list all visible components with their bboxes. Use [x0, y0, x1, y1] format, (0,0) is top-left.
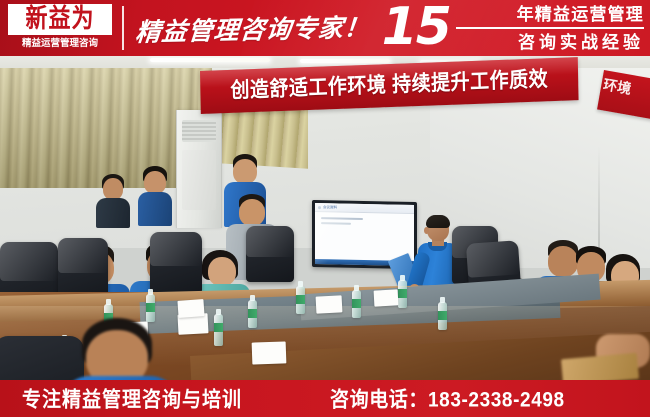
bottle-label: [104, 313, 113, 322]
wall-slogan-text: 创造舒适工作环境 持续提升工作质效: [230, 69, 548, 102]
logo-subtitle: 精益运营管理咨询: [8, 36, 112, 51]
chair-highlight: [466, 240, 520, 278]
bottle-label: [214, 323, 223, 332]
logo-box: 新益为: [8, 4, 112, 35]
name-card: [177, 299, 204, 318]
promo-banner-image: 新益为 精益运营管理咨询 精益管理咨询专家！ 15 年精益运营管理 咨询实战经验: [0, 0, 650, 417]
foreground-chair: [0, 336, 84, 380]
ac-grill: [182, 120, 216, 142]
water-bottle: [438, 302, 447, 330]
years-line-1: 年精益运营管理: [517, 3, 644, 26]
attendee-head: [208, 257, 236, 286]
window-dot-icon: [318, 206, 321, 209]
presenter-hair: [426, 215, 450, 228]
bottle-label: [146, 303, 155, 312]
bottle-label: [398, 289, 407, 298]
attendee-head: [144, 171, 166, 194]
years-text-block: 年精益运营管理 咨询实战经验: [454, 3, 644, 54]
wall-slogan-right-text: 环境: [602, 74, 633, 99]
ac-panel: [182, 150, 216, 210]
attendee-head: [233, 159, 257, 184]
attendee-back-left-1: [96, 174, 130, 226]
water-bottle: [104, 304, 113, 332]
water-bottle: [248, 300, 257, 328]
presenter-ear: [424, 227, 429, 234]
screen-text-line: [321, 217, 363, 220]
name-card: [374, 289, 399, 306]
screen-window-title: 会议资料: [323, 205, 337, 210]
footer-tagline: 专注精益管理咨询与培训: [22, 384, 242, 414]
name-card: [118, 321, 149, 342]
attendee-torso: [96, 198, 130, 228]
name-card: [316, 295, 343, 313]
name-card: [252, 341, 287, 364]
chair-highlight: [0, 242, 58, 281]
water-bottle: [352, 290, 361, 318]
chair-highlight: [58, 238, 108, 273]
water-bottle: [214, 314, 223, 346]
office-chair: [150, 232, 202, 294]
water-bottle: [398, 280, 407, 308]
logo-main-text: 新益为: [25, 7, 94, 33]
footer-phone: 咨询电话：183-2338-2498: [330, 384, 565, 414]
bottle-label: [248, 309, 257, 318]
screen-window-titlebar: 会议资料: [315, 203, 414, 214]
header-divider: [122, 6, 124, 50]
screen-text-line: [321, 222, 351, 225]
meeting-room-photo: 创造舒适工作环境 持续提升工作质效 环境 会议资料: [0, 56, 650, 380]
water-bottle: [146, 294, 155, 322]
header-slogan: 精益管理咨询专家！: [134, 2, 408, 54]
attendee-back-left-2: [138, 166, 172, 224]
ceiling-light-1: [150, 58, 270, 62]
ceiling-light-2: [300, 59, 390, 63]
header-bar: 新益为 精益运营管理咨询 精益管理咨询专家！ 15 年精益运营管理 咨询实战经验: [0, 0, 650, 56]
years-line-2: 咨询实战经验: [518, 31, 644, 54]
attendee-torso: [138, 192, 172, 226]
chair-highlight: [150, 232, 202, 266]
chair-highlight: [246, 226, 294, 257]
water-bottle: [296, 286, 305, 314]
office-chair: [246, 226, 294, 282]
bottle-label: [352, 299, 361, 308]
years-number: 15: [382, 0, 450, 55]
bottle-label: [296, 295, 305, 304]
footer-bar: 专注精益管理咨询与培训 咨询电话：183-2338-2498: [0, 380, 650, 417]
air-conditioner-unit: [176, 110, 222, 228]
attendee-head: [239, 199, 265, 226]
company-logo: 新益为 精益运营管理咨询: [8, 4, 112, 52]
years-rule: [456, 27, 644, 29]
attendee-head: [103, 178, 123, 200]
bottle-label: [438, 311, 447, 320]
